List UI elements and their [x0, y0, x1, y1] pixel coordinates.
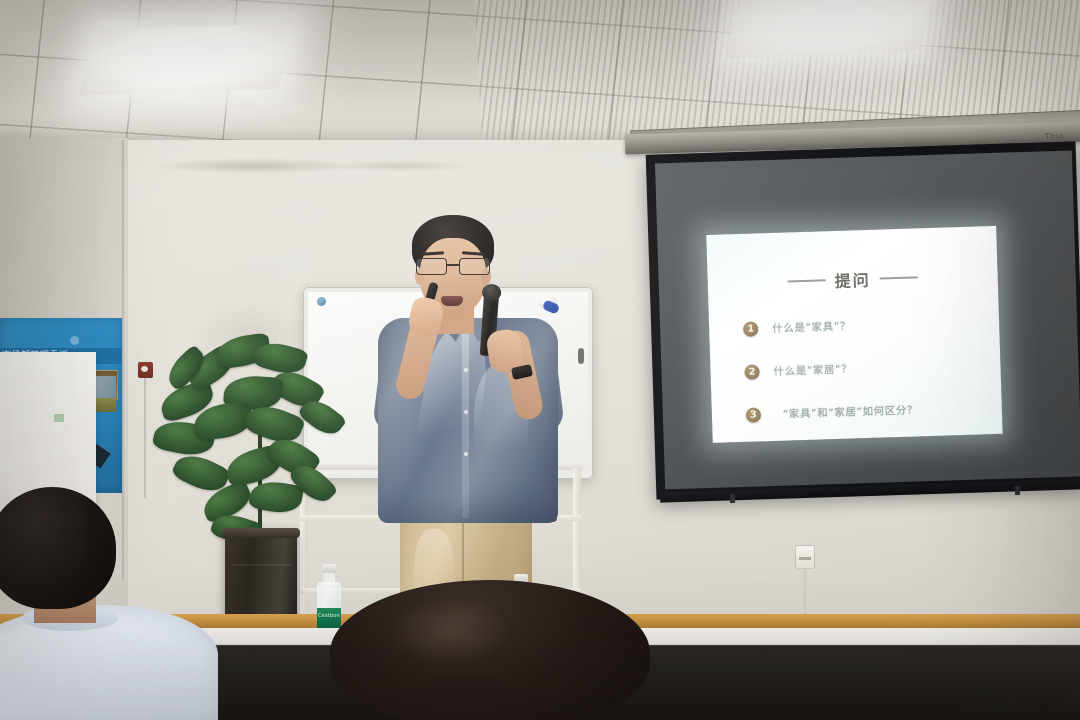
- attendee-hair-highlight: [390, 596, 510, 666]
- outlet-slot: [799, 557, 811, 560]
- projection-screen-surface: 提问 1 什么是“家具”？ 2 什么是“家居”？ 3 “家具”和“家居”如何区分…: [655, 150, 1080, 489]
- slide-title-dash-left: [788, 279, 826, 282]
- slide-list-item: 1 什么是“家具”？: [743, 311, 990, 340]
- slide-title: 提问: [834, 267, 871, 292]
- slide-item-text: 什么是“家居”？: [773, 361, 852, 378]
- outlet-cable: [804, 568, 806, 620]
- wall-mark: [330, 160, 470, 172]
- projected-slide: 提问 1 什么是“家具”？ 2 什么是“家居”？ 3 “家具”和“家居”如何区分…: [706, 226, 1002, 443]
- shirt-placket: [462, 326, 469, 518]
- board-pin-icon: [70, 336, 79, 345]
- screen-weight: [1015, 486, 1020, 495]
- slide-bullet-number: 3: [746, 407, 761, 422]
- glasses-icon: [416, 258, 490, 273]
- poster-mark: [54, 414, 64, 422]
- glasses-lens-right: [459, 258, 490, 275]
- screen-brand-label: Thin: [1045, 132, 1064, 142]
- alarm-lens: [141, 366, 148, 372]
- attendee-front-left: [0, 487, 248, 720]
- presentation-room-photo: 市场部管理看板 Thin 提问 1 什么是: [0, 0, 1080, 720]
- attendee-head: [0, 487, 116, 609]
- shirt-button: [464, 368, 468, 372]
- bottle-cap: [322, 564, 336, 573]
- microphone-head: [482, 283, 502, 301]
- slide-title-dash-right: [880, 277, 918, 280]
- glasses-bridge: [446, 264, 460, 266]
- ceiling-light-right-icon: [728, 0, 932, 58]
- shirt-button: [464, 410, 468, 414]
- wall-mark: [150, 158, 360, 174]
- slide-question-list: 1 什么是“家具”？ 2 什么是“家居”？ 3 “家具”和“家居”如何区分？: [743, 311, 993, 448]
- attendee-front-center: [330, 580, 650, 720]
- slide-item-text: “家具”和“家居”如何区分？: [783, 402, 919, 421]
- slide-bullet-number: 1: [743, 321, 758, 336]
- whiteboard-clip-icon: [317, 297, 326, 306]
- wall-outlet[interactable]: [795, 545, 815, 569]
- screen-weight: [730, 494, 735, 503]
- speaker-mouth: [441, 296, 463, 306]
- alarm-conduit: [144, 378, 146, 498]
- projection-screen: 提问 1 什么是“家具”？ 2 什么是“家居”？ 3 “家具”和“家居”如何区分…: [646, 141, 1080, 499]
- slide-title-row: 提问: [707, 263, 998, 296]
- slide-list-item: 2 什么是“家居”？: [744, 354, 991, 383]
- whiteboard-hinge: [578, 348, 584, 364]
- slide-bullet-number: 2: [744, 364, 759, 379]
- shirt-button: [464, 452, 468, 456]
- slide-item-text: 什么是“家具”？: [772, 318, 851, 335]
- glasses-lens-left: [416, 258, 447, 275]
- ceiling-light-left-icon: [79, 23, 295, 96]
- slide-list-item: 3 “家具”和“家居”如何区分？: [746, 397, 993, 426]
